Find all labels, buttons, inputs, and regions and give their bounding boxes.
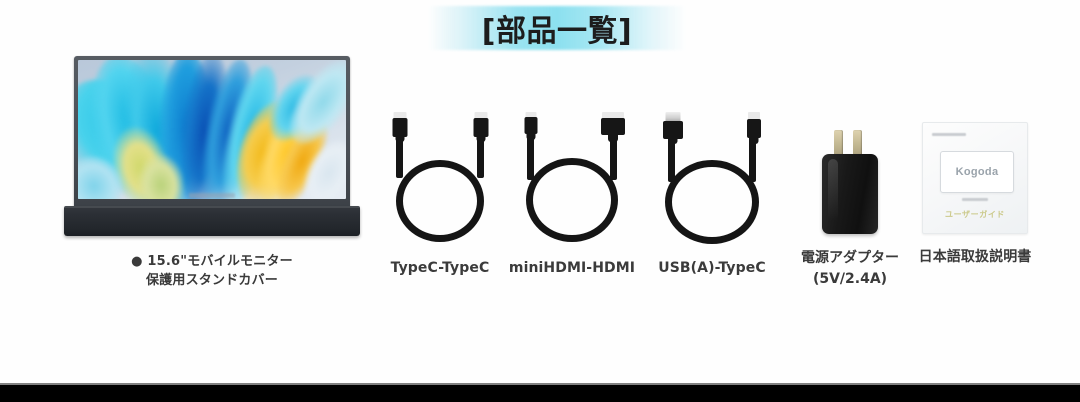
usb-c-connector-right <box>470 112 491 142</box>
item-monitor-label: ● 15.6"モバイルモニター 保護用スタンドカバー <box>62 252 362 290</box>
hdmi-cable-icon <box>508 112 636 240</box>
item-monitor-label-line2: 保護用スタンドカバー <box>62 271 362 290</box>
item-power-adapter-label: 電源アダプター (5V/2.4A) <box>792 248 908 290</box>
monitor-brand-logo <box>189 193 235 198</box>
manual-booklet-icon: Kogoda ユーザーガイド <box>922 122 1028 234</box>
bottom-black-bar <box>0 385 1080 402</box>
usb-a-cable-icon <box>648 112 776 240</box>
power-adapter-icon <box>808 118 892 238</box>
page-title-text: [部品一覧] <box>482 6 632 50</box>
usb-c-connector <box>743 112 764 144</box>
item-cable-usba-typec-label: USB(A)-TypeC <box>648 260 776 276</box>
monitor-icon <box>74 56 350 208</box>
item-monitor-label-line1: ● 15.6"モバイルモニター <box>62 252 362 271</box>
parts-list-page: [部品一覧] <box>0 0 1080 402</box>
usb-c-connector-left <box>389 112 410 142</box>
monitor-screen <box>78 60 346 199</box>
hdmi-connector <box>599 112 627 142</box>
monitor-stand-cover <box>64 206 360 236</box>
manual-cover-topline <box>932 133 966 136</box>
item-cable-usba-typec: USB(A)-TypeC <box>648 112 776 276</box>
mini-hdmi-connector <box>520 112 541 140</box>
manual-cover: Kogoda ユーザーガイド <box>922 122 1028 234</box>
item-manual: Kogoda ユーザーガイド 日本語取扱説明書 <box>916 122 1034 266</box>
manual-cover-guide-text: ユーザーガイド <box>945 209 1005 220</box>
item-manual-label: 日本語取扱説明書 <box>916 246 1034 266</box>
item-monitor: ● 15.6"モバイルモニター 保護用スタンドカバー <box>62 56 362 296</box>
item-cable-typec-typec-label: TypeC-TypeC <box>378 260 502 276</box>
item-cable-minihdmi-hdmi: miniHDMI-HDMI <box>508 112 636 276</box>
page-title: [部品一覧] <box>428 6 686 50</box>
item-power-adapter-label-line1: 電源アダプター <box>792 248 908 269</box>
adapter-body <box>822 154 878 234</box>
item-power-adapter-label-line2: (5V/2.4A) <box>792 269 908 290</box>
manual-cover-brand: Kogoda <box>956 166 999 178</box>
usb-c-cable-icon <box>378 112 502 240</box>
manual-cover-subline <box>962 198 988 201</box>
item-cable-minihdmi-hdmi-label: miniHDMI-HDMI <box>508 260 636 276</box>
usb-a-connector <box>660 112 686 144</box>
item-power-adapter: 電源アダプター (5V/2.4A) <box>792 118 908 290</box>
monitor-bezel <box>74 56 350 208</box>
manual-cover-monitor-art: Kogoda <box>940 151 1014 193</box>
item-cable-typec-typec: TypeC-TypeC <box>378 112 502 276</box>
